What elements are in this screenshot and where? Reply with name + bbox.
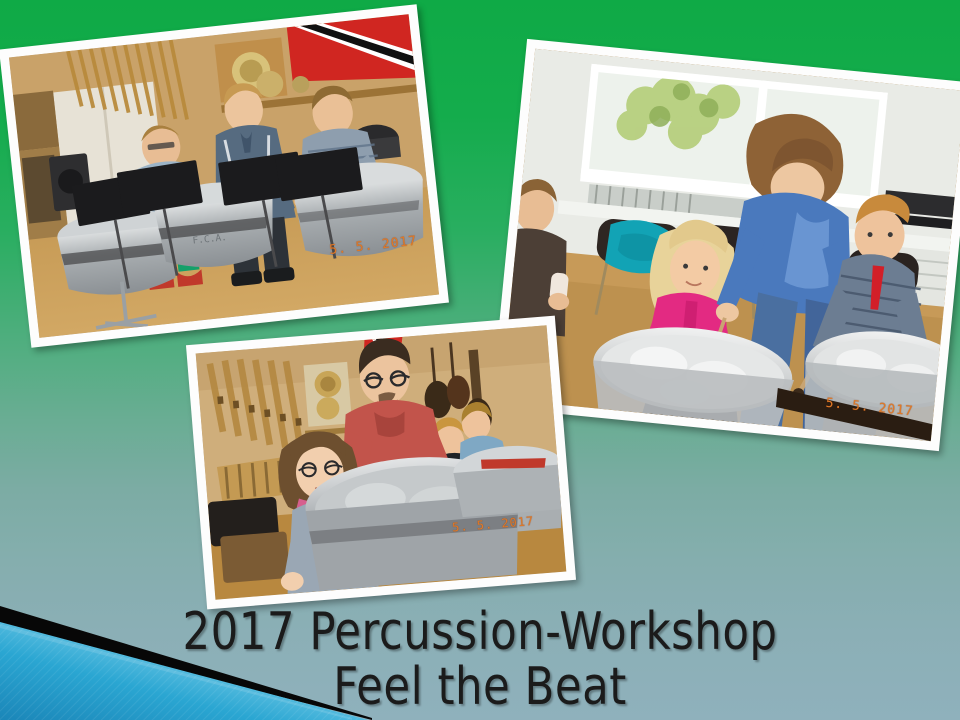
photo-card-2[interactable]: 5. 5. 2017: [491, 39, 960, 451]
slide-title: 2017 Percussion-Workshop Feel the Beat: [0, 606, 960, 714]
photo-card-1[interactable]: F.C.A.: [0, 4, 449, 348]
title-line-1: 2017 Percussion-Workshop: [34, 606, 927, 659]
photo-card-3[interactable]: BEAUT: [186, 316, 576, 610]
photo-3-image: BEAUT: [196, 325, 567, 599]
photo-2-image: 5. 5. 2017: [501, 49, 960, 441]
presentation-slide: F.C.A.: [0, 0, 960, 720]
title-line-2: Feel the Beat: [34, 661, 927, 714]
photo-1-image: F.C.A.: [9, 14, 439, 338]
